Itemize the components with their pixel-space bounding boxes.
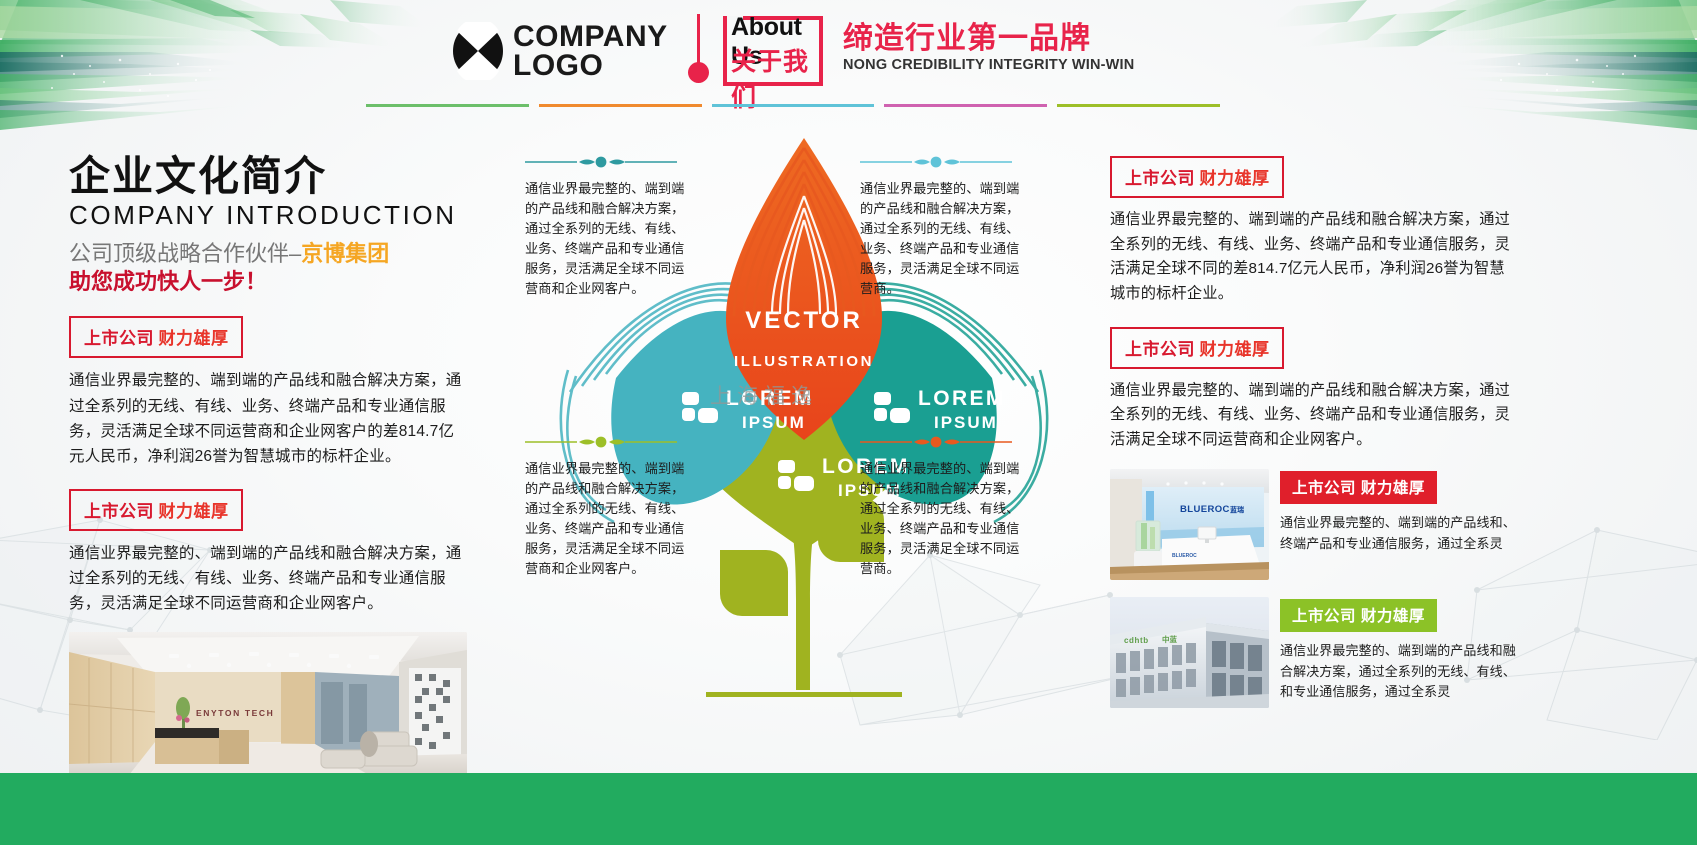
header-slogan: 缔造行业第一品牌 NONG CREDIBILITY INTEGRITY WIN-… — [843, 22, 1134, 73]
center-text-top-right: 通信业界最完整的、端到端的产品线和融合解决方案，通过全系列的无线、有线、业务、终… — [860, 179, 1028, 299]
slogan-en: NONG CREDIBILITY INTEGRITY WIN-WIN — [843, 57, 1134, 73]
left-subtitle-highlight: 京博集团 — [301, 241, 389, 266]
office-lobby-photo: ENYTON TECH — [69, 632, 467, 775]
center-watermark: 上海福逸 — [710, 380, 818, 410]
divider-seg-5 — [1057, 104, 1220, 107]
info-card-1-text: 通信业界最完整的、端到端的产品线和、终端产品和专业通信服务，通过全系灵 — [1280, 513, 1520, 553]
left-subtitle-2: 助您成功快人一步！ — [69, 268, 469, 296]
center-caption-bottom-right: 通信业界最完整的、端到端的产品线和融合解决方案，通过全系列的无线、有线、业务、终… — [860, 435, 1028, 579]
badge-2-part-b: 财力雄厚 — [158, 502, 228, 521]
badge-1-part-a: 上市公司 — [84, 329, 154, 348]
caption-rule-top-left-icon — [525, 156, 677, 168]
office-photo-caption: ENYTON TECH — [196, 708, 274, 718]
about-us-box: About Us 关于我们 — [723, 16, 823, 86]
center-caption-top-left: 通信业界最完整的、端到端的产品线和融合解决方案，通过全系列的无线、有线、业务、终… — [525, 155, 693, 299]
left-subtitle-1: 公司顶级战略合作伙伴–京博集团 — [69, 240, 469, 268]
page-title-cn: 企业文化简介 — [69, 152, 469, 200]
petal-top-label-2: ILLUSTRATION — [734, 353, 874, 370]
badge-outline-2: 上市公司 财力雄厚 — [69, 489, 243, 531]
header-color-divider — [366, 104, 1220, 107]
petal-right-label-2: IPSUM — [934, 413, 998, 432]
left-column: 企业文化简介 COMPANY INTRODUCTION 公司顶级战略合作伙伴–京… — [69, 152, 469, 775]
info-card-1-body: 上市公司 财力雄厚 通信业界最完整的、端到端的产品线和、终端产品和专业通信服务，… — [1280, 469, 1520, 580]
badge-solid-2-part-a: 上市公司 — [1292, 608, 1356, 625]
badge-1-part-b: 财力雄厚 — [158, 329, 228, 348]
center-text-bottom-right: 通信业界最完整的、端到端的产品线和融合解决方案，通过全系列的无线、有线、业务、终… — [860, 459, 1028, 579]
reception-photo: BLUEROC 蓝瑞 BLUEROC — [1110, 469, 1269, 580]
company-logo-icon — [452, 22, 504, 80]
company-logo-text: COMPANY LOGO — [513, 22, 668, 81]
poster-canvas: COMPANY LOGO About Us 关于我们 缔造行业第一品牌 NONG… — [0, 0, 1697, 845]
svg-text:蓝瑞: 蓝瑞 — [1230, 505, 1244, 514]
badge-4-part-b: 财力雄厚 — [1199, 340, 1269, 359]
caption-rule-top-right-icon — [860, 156, 1012, 168]
center-text-bottom-left: 通信业界最完整的、端到端的产品线和融合解决方案，通过全系列的无线、有线、业务、终… — [525, 459, 693, 579]
building-photo-caption: cdhtb — [1124, 636, 1149, 645]
left-paragraph-2: 通信业界最完整的、端到端的产品线和融合解决方案，通过全系列的无线、有线、业务、终… — [69, 541, 469, 616]
badge-4-part-a: 上市公司 — [1125, 340, 1195, 359]
svg-text:BLUEROC: BLUEROC — [1172, 553, 1197, 559]
tree-ground-line — [706, 692, 902, 697]
badge-3-part-a: 上市公司 — [1125, 169, 1195, 188]
divider-seg-2 — [539, 104, 702, 107]
divider-seg-1 — [366, 104, 529, 107]
badge-solid-2-part-b: 财力雄厚 — [1361, 608, 1425, 625]
badge-solid-1-part-b: 财力雄厚 — [1361, 480, 1425, 497]
building-photo: cdhtb 中蓝 — [1110, 597, 1269, 708]
info-card-2-text: 通信业界最完整的、端到端的产品线和融合解决方案，通过全系列的无线、有线、和专业通… — [1280, 641, 1520, 701]
right-paragraph-2: 通信业界最完整的、端到端的产品线和融合解决方案，通过全系列的无线、有线、业务、终… — [1110, 379, 1520, 453]
center-tree-infographic: VECTOR ILLUSTRATION LOREM IPSUM LOREM IP… — [510, 130, 1110, 710]
divider-seg-3 — [712, 104, 875, 107]
petal-left-label-2: IPSUM — [742, 413, 806, 432]
petal-top-label-1: VECTOR — [745, 307, 863, 334]
left-paragraph-1: 通信业界最完整的、端到端的产品线和融合解决方案，通过全系列的无线、有线、业务、终… — [69, 368, 469, 468]
info-card-2-body: 上市公司 财力雄厚 通信业界最完整的、端到端的产品线和融合解决方案，通过全系列的… — [1280, 597, 1520, 708]
badge-solid-1-part-a: 上市公司 — [1292, 480, 1356, 497]
caption-rule-bottom-right-icon — [860, 436, 1012, 448]
divider-seg-4 — [884, 104, 1047, 107]
info-card-1: BLUEROC 蓝瑞 BLUEROC — [1110, 469, 1520, 580]
footer-bar — [0, 773, 1697, 845]
right-column: 上市公司 财力雄厚 通信业界最完整的、端到端的产品线和融合解决方案，通过全系列的… — [1110, 156, 1520, 708]
company-logo: COMPANY LOGO — [452, 22, 668, 81]
info-card-2: cdhtb 中蓝 上市公司 财力雄厚 — [1110, 597, 1520, 708]
poster-header: COMPANY LOGO About Us 关于我们 缔造行业第一品牌 NONG… — [0, 0, 1697, 112]
badge-outline-1: 上市公司 财力雄厚 — [69, 316, 243, 358]
badge-2-part-a: 上市公司 — [84, 502, 154, 521]
reception-photo-caption: BLUEROC — [1180, 504, 1230, 515]
header-pin-dot-icon — [688, 62, 709, 83]
center-caption-top-right: 通信业界最完整的、端到端的产品线和融合解决方案，通过全系列的无线、有线、业务、终… — [860, 155, 1028, 299]
slogan-cn: 缔造行业第一品牌 — [843, 22, 1134, 56]
badge-outline-3: 上市公司 财力雄厚 — [1110, 156, 1284, 198]
right-paragraph-1: 通信业界最完整的、端到端的产品线和融合解决方案，通过全系列的无线、有线、业务、终… — [1110, 208, 1520, 307]
badge-solid-1: 上市公司 财力雄厚 — [1280, 471, 1437, 504]
badge-outline-4: 上市公司 财力雄厚 — [1110, 327, 1284, 369]
logo-line-1: COMPANY — [513, 22, 668, 51]
badge-solid-2: 上市公司 财力雄厚 — [1280, 599, 1437, 632]
logo-line-2: LOGO — [513, 51, 668, 80]
svg-text:中蓝: 中蓝 — [1162, 634, 1178, 644]
center-text-top-left: 通信业界最完整的、端到端的产品线和融合解决方案，通过全系列的无线、有线、业务、终… — [525, 179, 693, 299]
petal-right-label-1: LOREM — [918, 387, 1006, 410]
caption-rule-bottom-left-icon — [525, 436, 677, 448]
badge-3-part-b: 财力雄厚 — [1199, 169, 1269, 188]
center-caption-bottom-left: 通信业界最完整的、端到端的产品线和融合解决方案，通过全系列的无线、有线、业务、终… — [525, 435, 693, 579]
left-subtitle-prefix: 公司顶级战略合作伙伴– — [69, 241, 301, 266]
page-title-en: COMPANY INTRODUCTION — [69, 199, 469, 233]
tree-leaf-left — [720, 550, 788, 616]
